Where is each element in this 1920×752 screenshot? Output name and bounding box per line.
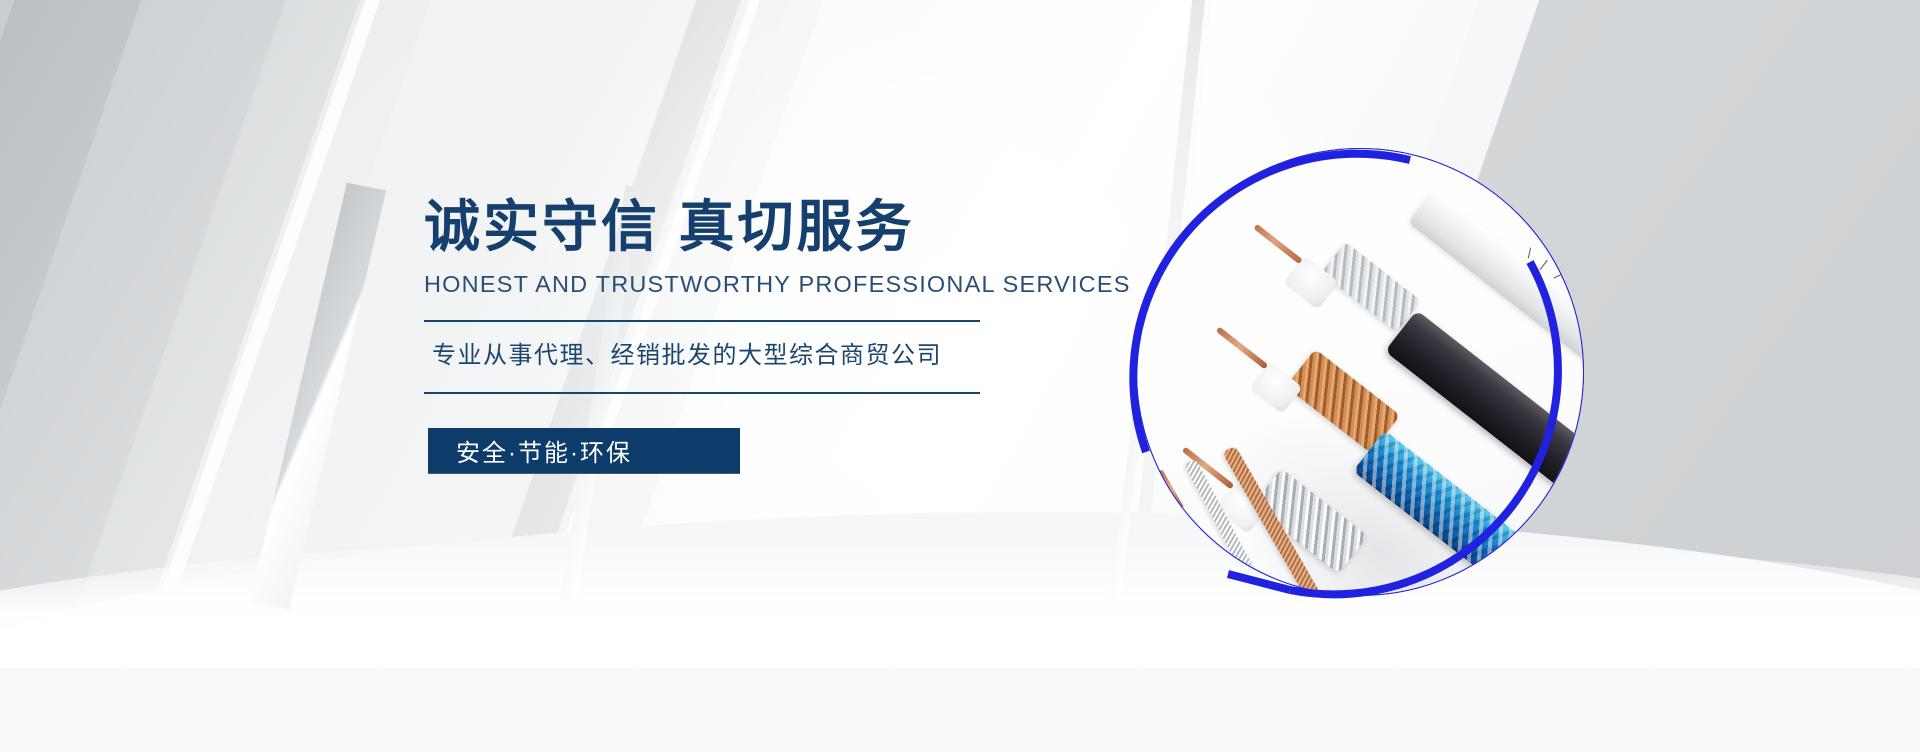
cable-thin-silver-tip: [1136, 489, 1147, 527]
product-medallion: \ | / \ — \ |: [1136, 148, 1584, 596]
page-title: 诚实守信 真切服务: [424, 196, 1044, 259]
hero-text-block: 诚实守信 真切服务 HONEST AND TRUSTWORTHY PROFESS…: [424, 196, 1044, 474]
divider-bottom: [424, 392, 980, 394]
cable-thin-copper-tip: [1158, 469, 1184, 510]
cable-white-core: [1253, 224, 1302, 264]
cable-group: \ | / \ — \ |: [1137, 149, 1583, 595]
cable-white-braid: [1321, 242, 1421, 333]
ribbon-label: 安全·节能·环保: [428, 433, 632, 468]
subtitle-chinese: 专业从事代理、经销批发的大型综合商贸公司: [424, 322, 1044, 370]
subtitle-english: HONEST AND TRUSTWORTHY PROFESSIONAL SERV…: [424, 271, 1044, 298]
medallion-photo: \ | / \ — \ |: [1136, 148, 1584, 596]
cable-black-core: [1216, 327, 1269, 370]
hero-banner: 诚实守信 真切服务 HONEST AND TRUSTWORTHY PROFESS…: [0, 0, 1920, 752]
cable-black-dielectric: [1249, 362, 1303, 415]
tagline-ribbon: 安全·节能·环保: [428, 428, 740, 474]
